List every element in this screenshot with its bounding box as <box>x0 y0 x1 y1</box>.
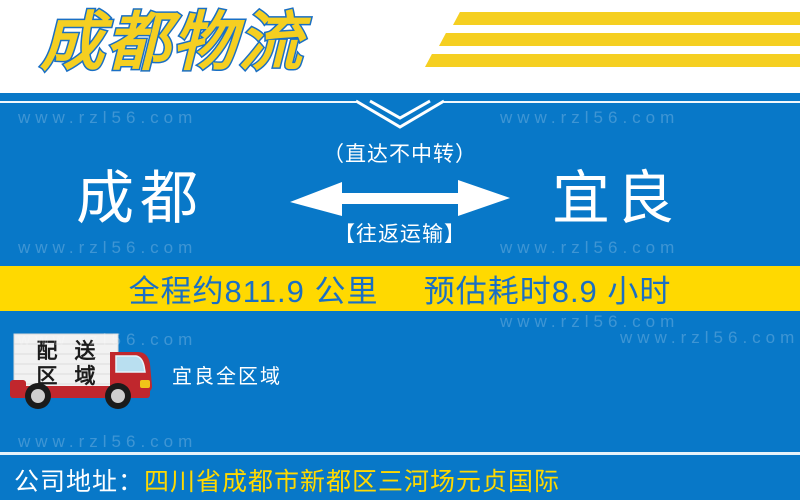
stripe-2 <box>439 33 800 46</box>
speed-stripes-decor <box>415 12 800 74</box>
two-way-arrow-icon <box>290 176 510 220</box>
distance-text: 全程约811.9 公里 <box>129 274 379 309</box>
logistics-route-banner: 成都物流 成都 （直达不中转） 【往返运输】 宜良 全程约811.9 公里 预估… <box>0 0 800 500</box>
address-value: 四川省成都市新都区三河场元贞国际 <box>144 468 560 496</box>
banner-header: 成都物流 <box>0 0 800 93</box>
watermark-1: www.rzl56.com <box>500 108 679 128</box>
origin-city: 成都 <box>76 168 204 230</box>
watermark-6: www.rzl56.com <box>620 328 799 348</box>
truck-char-2: 区 <box>28 364 66 389</box>
divider-line-left <box>0 101 356 103</box>
stripe-3 <box>425 54 800 67</box>
footer-divider <box>0 452 800 455</box>
stripe-1 <box>453 12 800 25</box>
brand-title: 成都物流 <box>40 2 304 82</box>
company-address: 公司地址：四川省成都市新都区三河场元贞国际 <box>14 462 560 498</box>
watermark-3: www.rzl56.com <box>500 238 679 258</box>
duration-text: 预估耗时8.9 小时 <box>424 274 672 309</box>
divider-line-right <box>444 101 800 103</box>
stats-band-text: 全程约811.9 公里 预估耗时8.9 小时 <box>129 266 672 311</box>
chevron-down-icon <box>352 99 448 133</box>
watermark-2: www.rzl56.com <box>18 238 197 258</box>
address-label: 公司地址： <box>14 468 144 496</box>
direct-service-label: （直达不中转） <box>290 138 510 168</box>
watermark-0: www.rzl56.com <box>18 108 197 128</box>
roundtrip-label: 【往返运输】 <box>290 218 510 248</box>
destination-city: 宜良 <box>552 168 680 230</box>
coverage-area-text: 宜良全区域 <box>172 360 282 389</box>
truck-char-3: 域 <box>66 364 104 389</box>
stats-band: 全程约811.9 公里 预估耗时8.9 小时 <box>0 266 800 311</box>
watermark-7: www.rzl56.com <box>18 432 197 452</box>
watermark-5: www.rzl56.com <box>18 330 197 350</box>
